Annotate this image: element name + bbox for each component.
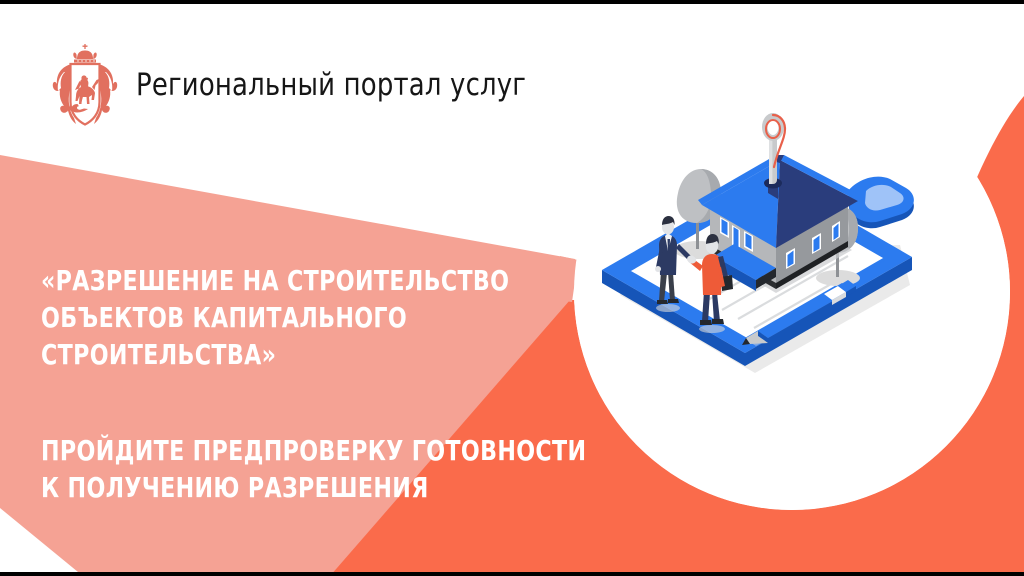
portal-title: Региональный портал услуг (136, 70, 526, 101)
service-name-line-2: ОБЪЕКТОВ КАПИТАЛЬНОГО (41, 299, 534, 336)
cta-text: ПРОЙДИТЕ ПРЕДПРОВЕРКУ ГОТОВНОСТИ К ПОЛУЧ… (41, 432, 569, 506)
promo-slide: Региональный портал услуг «РАЗРЕШЕНИЕ НА… (0, 0, 1024, 576)
service-name-line-1: «РАЗРЕШЕНИЕ НА СТРОИТЕЛЬСТВО (41, 262, 534, 299)
cta-block: ПРОЙДИТЕ ПРЕДПРОВЕРКУ ГОТОВНОСТИ К ПОЛУЧ… (41, 432, 641, 506)
cta-line-2: К ПОЛУЧЕНИЮ РАЗРЕШЕНИЯ (41, 469, 569, 506)
page-title: «РАЗРЕШЕНИЕ НА СТРОИТЕЛЬСТВО ОБЪЕКТОВ КА… (41, 262, 534, 374)
site-header: Региональный портал услуг (50, 40, 556, 130)
clipboard-clamp (848, 177, 914, 229)
letterbox-top (0, 0, 1024, 4)
service-name-block: «РАЗРЕШЕНИЕ НА СТРОИТЕЛЬСТВО ОБЪЕКТОВ КА… (41, 262, 601, 374)
isometric-building-permit-illustration (580, 105, 980, 405)
service-name-line-3: СТРОИТЕЛЬСТВА» (41, 336, 534, 373)
coat-of-arms-icon (50, 40, 120, 130)
cta-line-1: ПРОЙДИТЕ ПРЕДПРОВЕРКУ ГОТОВНОСТИ (41, 432, 569, 469)
letterbox-bottom (0, 572, 1024, 576)
